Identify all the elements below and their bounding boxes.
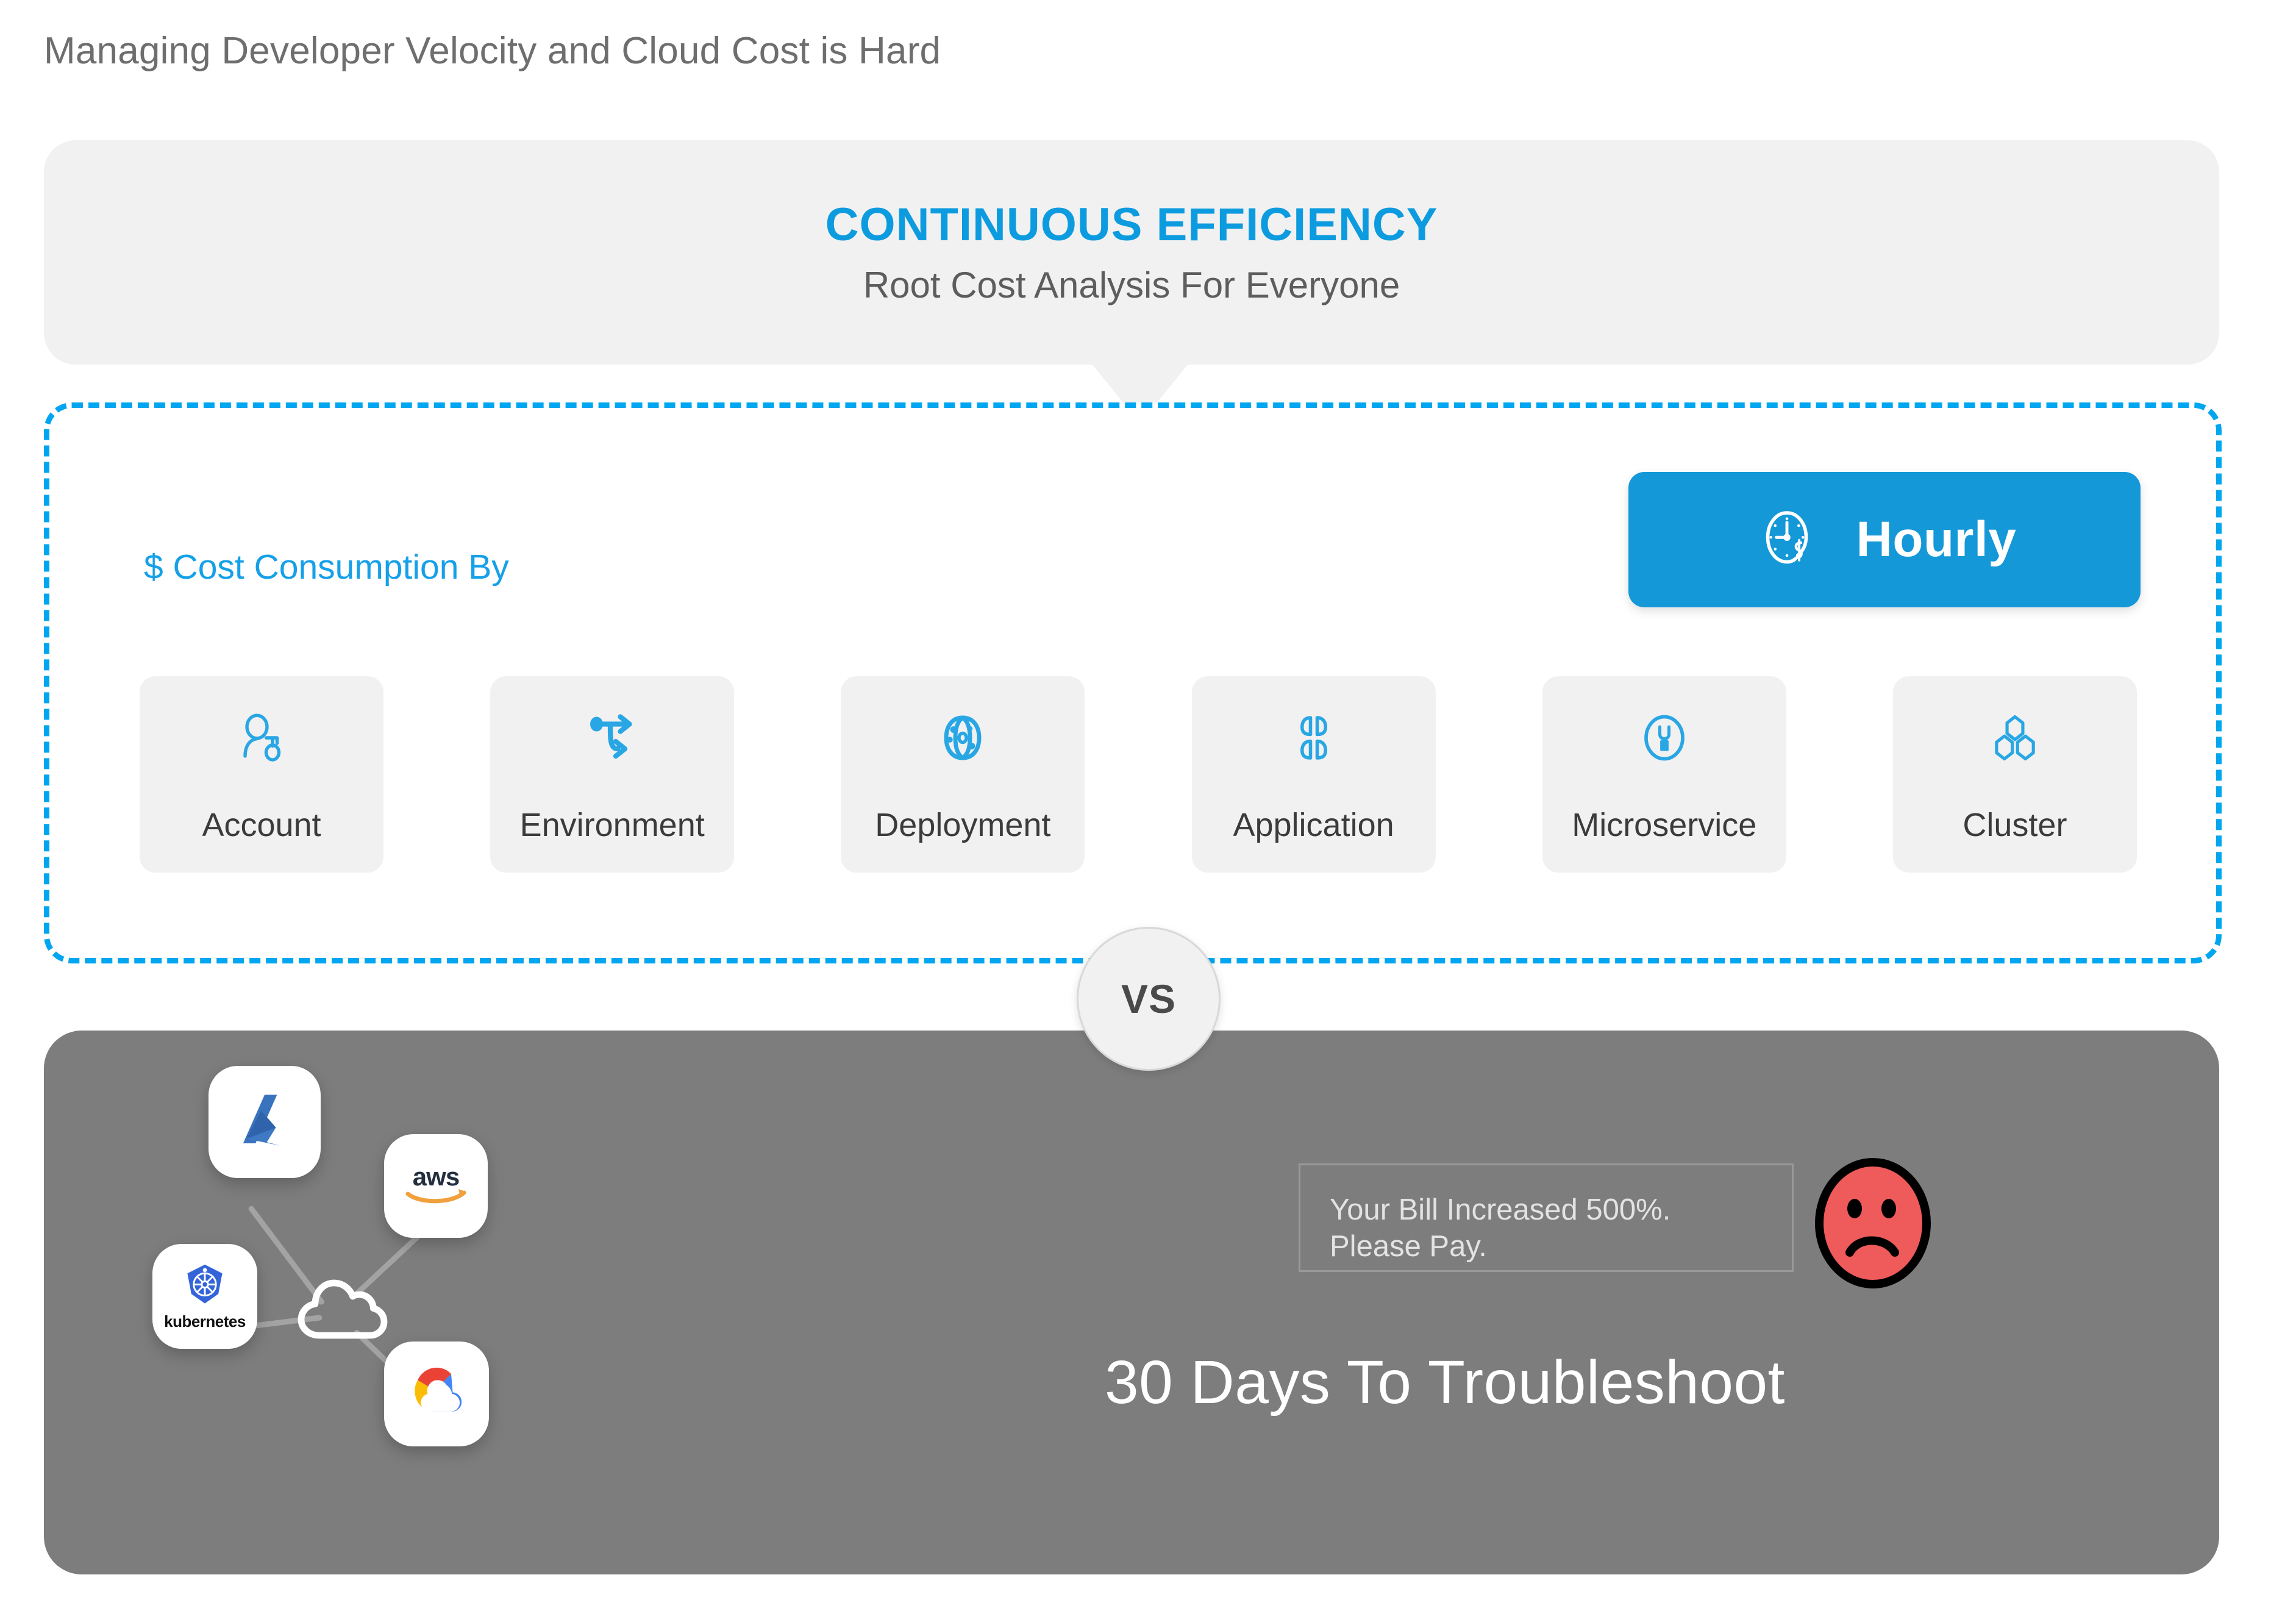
category-card-label: Application xyxy=(1233,806,1394,844)
category-card-deployment[interactable]: Deployment xyxy=(841,676,1085,873)
hourly-button[interactable]: Hourly xyxy=(1628,472,2141,607)
branch-arrow-icon xyxy=(583,701,641,774)
category-card-account[interactable]: Account xyxy=(140,676,383,873)
troubleshoot-headline: 30 Days To Troubleshoot xyxy=(1105,1348,1785,1418)
svg-text:aws: aws xyxy=(413,1162,459,1191)
vs-badge: VS xyxy=(1077,927,1221,1071)
category-card-microservice[interactable]: Microservice xyxy=(1542,676,1786,873)
category-card-label: Environment xyxy=(520,806,705,844)
aws-logo-tile: aws xyxy=(384,1134,488,1238)
category-card-label: Microservice xyxy=(1572,806,1756,844)
cloud-icon xyxy=(293,1272,390,1348)
google-cloud-logo-tile xyxy=(384,1342,489,1446)
header-banner: CONTINUOUS EFFICIENCY Root Cost Analysis… xyxy=(44,140,2219,365)
hexagons-icon xyxy=(1987,701,2043,774)
cloud-network-diagram: aws xyxy=(160,1043,830,1555)
banner-title: CONTINUOUS EFFICIENCY xyxy=(825,199,1438,251)
azure-logo-tile xyxy=(209,1066,321,1178)
category-card-environment[interactable]: Environment xyxy=(490,676,734,873)
cost-consumption-label: $ Cost Consumption By xyxy=(144,547,509,587)
category-card-label: Cluster xyxy=(1963,806,2067,844)
solution-panel: $ Cost Consumption By Hourly xyxy=(44,402,2222,963)
problem-panel: aws xyxy=(44,1031,2219,1574)
banner-subtitle: Root Cost Analysis For Everyone xyxy=(863,265,1400,305)
atom-icon xyxy=(933,701,992,774)
vs-badge-label: VS xyxy=(1121,976,1176,1022)
google-cloud-logo xyxy=(402,1363,471,1425)
wrench-circle-icon xyxy=(1635,701,1694,774)
person-key-icon xyxy=(232,701,291,774)
clock-dollar-icon xyxy=(1753,504,1821,576)
bill-notice-line1: Your Bill Increased 500%. xyxy=(1330,1192,1763,1229)
kubernetes-logo-tile: kubernetes xyxy=(152,1244,257,1349)
aws-logo: aws xyxy=(399,1161,472,1212)
kubernetes-wordmark: kubernetes xyxy=(164,1312,246,1331)
bill-notice-line2: Please Pay. xyxy=(1330,1229,1763,1265)
four-petal-grid-icon xyxy=(1287,701,1341,774)
bill-notice-box: Your Bill Increased 500%. Please Pay. xyxy=(1299,1163,1794,1272)
hourly-button-label: Hourly xyxy=(1856,511,2017,568)
azure-logo xyxy=(230,1090,299,1154)
category-card-label: Deployment xyxy=(875,806,1050,844)
category-cards-row: Account Environment xyxy=(140,676,2137,873)
page-title: Managing Developer Velocity and Cloud Co… xyxy=(44,29,941,73)
category-card-cluster[interactable]: Cluster xyxy=(1893,676,2137,873)
category-card-label: Account xyxy=(202,806,321,844)
sad-face-icon xyxy=(1812,1157,1934,1289)
kubernetes-logo: kubernetes xyxy=(164,1262,246,1331)
category-card-application[interactable]: Application xyxy=(1192,676,1436,873)
